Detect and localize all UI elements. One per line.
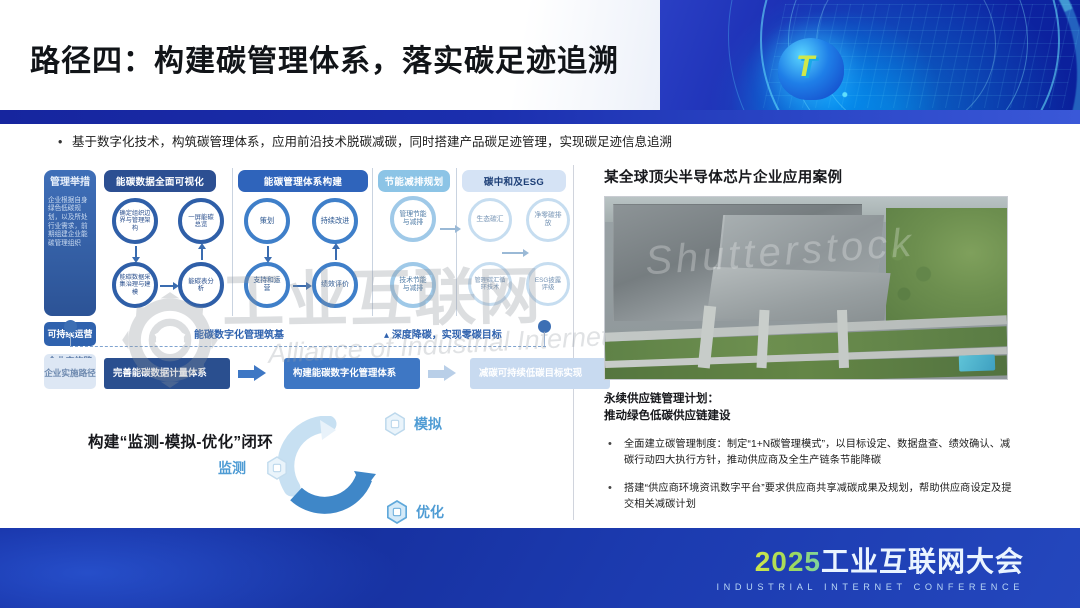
cycle-title: 构建“监测-模拟-优化”闭环 (88, 432, 273, 454)
bullet-marker-icon: • (58, 133, 72, 152)
path-row-label: 企业实施路径 (44, 358, 96, 389)
footer-glow-decoration (0, 528, 400, 608)
phase-label-foundation: 能碳数字化管理筑基 (194, 326, 284, 341)
column-separator (456, 168, 457, 316)
conference-footer-logo: 2025工业互联网大会 INDUSTRIAL INTERNET CONFEREN… (717, 548, 1024, 592)
sidebar-description: 企业根据自身绿色低碳规划，以及所处行业需求，前期组建企业能碳管理组织 (48, 197, 92, 249)
fab-aerial-photo: Shutterstock (604, 196, 1008, 380)
hexagon-icon (384, 412, 406, 436)
arrow-down-icon (267, 246, 269, 258)
node-performance-evaluation: 绩效评价 (312, 262, 358, 308)
case-study-panel: 某全球顶尖半导体芯片企业应用案例 Shutterstock 永续供应链管理计划：… (604, 166, 1016, 525)
node-data-modeling: 能碳数据采集治理与建模 (112, 262, 158, 308)
case-study-title: 某全球顶尖半导体芯片企业应用案例 (604, 166, 1016, 187)
phase-label-text: 深度降碳，实现零碳目标 (392, 330, 502, 341)
path-box-goal-realization: 减碳可持续低碳目标实现 (470, 358, 610, 389)
footer-logo-main: 2025工业互联网大会 (717, 548, 1024, 576)
slide-header: T 路径四：构建碳管理体系，落实碳足迹追溯 (0, 0, 1080, 110)
cycle-label-optimize: 优化 (416, 502, 444, 522)
node-management-saving: 管理节能与减排 (390, 196, 436, 242)
node-technical-saving: 技术节能与减排 (390, 262, 436, 308)
case-study-subtitle: 永续供应链管理计划： 推动绿色低碳供应链建设 (604, 391, 1016, 426)
photo-water-feature (959, 355, 996, 373)
arrow-down-icon (135, 246, 137, 258)
column-header-planning: 节能减排规划 (378, 170, 450, 192)
arrow-up-icon (335, 248, 337, 260)
footer-logo-name-cn: 工业互联网大会 (821, 546, 1024, 577)
node-energy-analysis: 能碳表分析 (178, 262, 224, 308)
sidebar-title: 管理举措 (48, 177, 92, 190)
phase-band: 能碳数字化管理筑基 ▴ 深度降碳，实现零碳目标 (40, 320, 572, 354)
column-header-system: 能碳管理体系构建 (238, 170, 368, 192)
column-header-visualization: 能碳数据全面可视化 (104, 170, 216, 192)
path-box-metering: 完善能碳数据计量体系 (104, 358, 230, 389)
arrow-right-icon (293, 285, 307, 287)
cycle-ring-icon (278, 416, 378, 516)
monitor-simulate-optimize-cycle: 构建“监测-模拟-优化”闭环 监测 模拟 优化 (40, 400, 572, 530)
conference-logo-letter: T (796, 50, 810, 84)
column-header-esg: 碳中和及ESG (462, 170, 566, 192)
vertical-divider (573, 165, 574, 520)
list-item: • 全面建立碳管理制度：制定“1+N碳管理模式”，以目标设定、数据盘查、绩效确认… (604, 437, 1016, 470)
sidebar-management-measures: 管理举措 企业根据自身绿色低碳规划，以及所处行业需求，前期组建企业能碳管理组织 (44, 170, 96, 316)
node-esg-disclosure: ESG披露评级 (526, 262, 570, 306)
path-box-digital-system: 构建能碳数字化管理体系 (284, 358, 420, 389)
slide-root: T 路径四：构建碳管理体系，落实碳足迹追溯 •基于数字化技术，构筑碳管理体系，应… (0, 0, 1080, 608)
header-decoration-graphic: T (660, 0, 1080, 110)
list-item: • 搭建“供应商环境资讯数字平台”要求供应商共享减碳成果及规划，帮助供应商设定及… (604, 481, 1016, 514)
node-support-operations: 支持和运营 (244, 262, 290, 308)
node-net-zero: 净零碳排放 (526, 198, 570, 242)
node-org-boundary: 确定组织边界与管理架构 (112, 198, 158, 244)
implementation-path-row: 企业实施路径 完善能碳数据计量体系 构建能碳数字化管理体系 减碳可持续低碳目标实… (40, 356, 572, 392)
hexagon-icon (266, 456, 288, 480)
node-continuous-improvement: 持续改进 (312, 198, 358, 244)
phase-label-deep-reduction: ▴ 深度降碳，实现零碳目标 (384, 326, 502, 341)
page-title: 路径四：构建碳管理体系，落实碳足迹追溯 (30, 36, 619, 80)
arrow-up-icon (201, 248, 203, 260)
arrow-right-icon (440, 228, 456, 230)
intro-bullet: •基于数字化技术，构筑碳管理体系，应用前沿技术脱碳减碳，同时搭建产品碳足迹管理，… (58, 133, 958, 152)
list-item-text: 搭建“供应商环境资讯数字平台”要求供应商共享减碳成果及规划，帮助供应商设定及提交… (624, 481, 1016, 514)
phase-pin-icon (64, 320, 77, 333)
node-energy-overview: 一屏能碳总览 (178, 198, 224, 244)
phase-pin-icon (538, 320, 551, 333)
node-plan: 策划 (244, 198, 290, 244)
hexagon-icon (386, 500, 408, 524)
node-eco-carbon-sink: 生态碳汇 (468, 198, 512, 242)
footer-logo-name-en: INDUSTRIAL INTERNET CONFERENCE (717, 582, 1024, 592)
header-underline-bar (0, 110, 1080, 124)
cycle-label-simulate: 模拟 (414, 414, 442, 434)
case-study-bullets: • 全面建立碳管理制度：制定“1+N碳管理模式”，以目标设定、数据盘查、绩效确认… (604, 437, 1016, 514)
arrow-right-icon (160, 285, 174, 287)
arrow-right-icon (238, 365, 266, 382)
phase-dashed-line (70, 346, 546, 347)
footer-logo-year: 2025 (755, 546, 821, 577)
slide-footer: 2025工业互联网大会 INDUSTRIAL INTERNET CONFEREN… (0, 528, 1080, 608)
conference-orb-icon (778, 38, 844, 100)
column-separator (372, 168, 373, 316)
bullet-marker-icon: • (604, 437, 624, 470)
arrow-right-icon (428, 365, 456, 382)
intro-bullet-text: 基于数字化技术，构筑碳管理体系，应用前沿技术脱碳减碳，同时搭建产品碳足迹管理，实… (72, 135, 672, 149)
list-item-text: 全面建立碳管理制度：制定“1+N碳管理模式”，以目标设定、数据盘查、绩效确认、减… (624, 437, 1016, 470)
node-sink-circular-tech: 管理碳汇循环技术 (468, 262, 512, 306)
column-separator (232, 168, 233, 316)
arrow-right-icon (502, 252, 524, 254)
bullet-marker-icon: • (604, 481, 624, 514)
cycle-label-monitor: 监测 (218, 458, 246, 478)
